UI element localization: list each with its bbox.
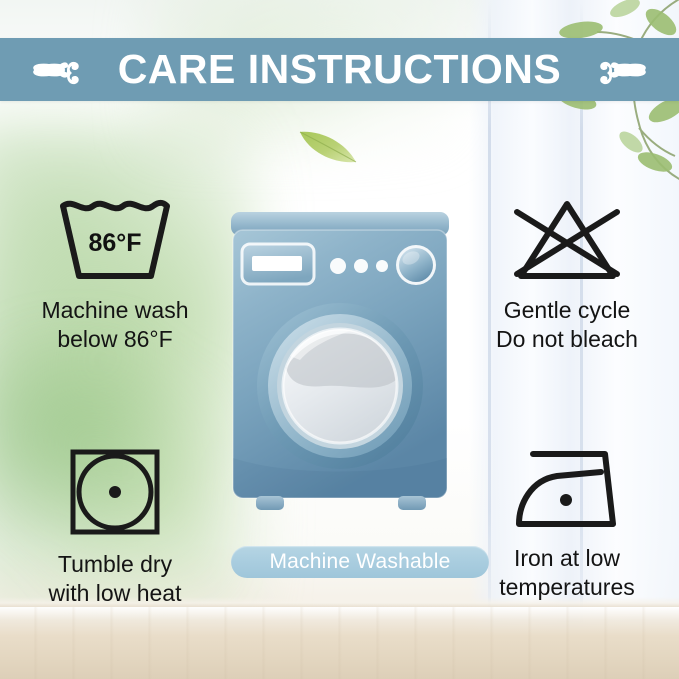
care-item-tumble-dry: Tumble dry with low heat <box>10 446 220 608</box>
machine-washable-badge: Machine Washable <box>231 546 489 578</box>
iron-one-dot-icon <box>509 446 625 532</box>
care-instructions-infographic: CARE INSTRUCTIONS <box>0 0 679 679</box>
wash-temperature-value: 86°F <box>88 229 141 257</box>
fleur-de-lis-icon <box>25 46 89 94</box>
care-label-iron-low: Iron at low temperatures <box>499 544 635 602</box>
fleur-de-lis-icon <box>590 46 654 94</box>
green-leaf-icon <box>296 124 360 168</box>
front-load-washing-machine-illustration <box>228 208 452 530</box>
care-label-do-not-bleach: Gentle cycle Do not bleach <box>496 296 638 354</box>
tumble-dry-one-dot-icon <box>67 446 163 538</box>
wooden-table-surface <box>0 607 679 679</box>
badge-label: Machine Washable <box>269 550 450 574</box>
wash-tub-icon: 86°F <box>57 196 173 284</box>
triangle-crossed-out-icon <box>509 196 625 284</box>
care-item-iron-low: Iron at low temperatures <box>462 446 672 602</box>
care-label-tumble-dry: Tumble dry with low heat <box>49 550 182 608</box>
care-item-machine-wash: 86°F Machine wash below 86°F <box>10 196 220 354</box>
care-label-machine-wash: Machine wash below 86°F <box>41 296 188 354</box>
care-item-do-not-bleach: Gentle cycle Do not bleach <box>462 196 672 354</box>
banner-title: CARE INSTRUCTIONS <box>118 46 562 93</box>
banner: CARE INSTRUCTIONS <box>0 38 679 101</box>
